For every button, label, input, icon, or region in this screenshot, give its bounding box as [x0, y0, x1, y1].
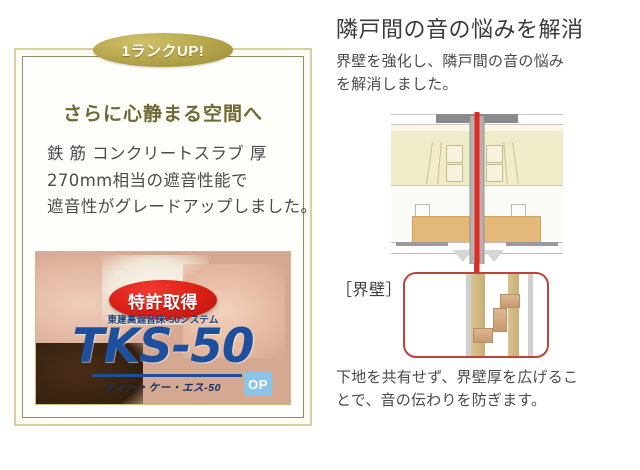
card-heading: さらに心静まる空間へ: [23, 99, 303, 126]
baby-photo: 特許取得 東建高遮音床-50システム TKS-50 ティー・ケー・エス-50 O…: [35, 251, 291, 405]
patent-badge-label: 特許取得: [128, 288, 198, 313]
diagram-lower-slab-core-right: [506, 242, 558, 246]
diagram-lower-slab-core-left: [396, 242, 448, 246]
slide-root: さらに心静まる空間へ 鉄 筋 コンクリートスラブ 厚 270mm相当の遮音性能で…: [0, 0, 640, 470]
logo-underline: [92, 374, 242, 377]
detail-stud-right: [508, 274, 519, 356]
option-badge: OP: [244, 372, 272, 396]
section-lead: 界壁を強化し、隣戸間の音の悩み を解消しました。: [336, 50, 628, 97]
section-lead-line-2: を解消しました。: [336, 73, 628, 96]
rank-up-badge-label: 1ランクUP!: [122, 40, 205, 61]
rank-up-badge-wrap: 1ランクUP!: [16, 33, 310, 67]
detail-board-right: [528, 274, 533, 356]
section-footnote-line-1: 下地を共有せず、界壁厚を広げるこ: [336, 366, 628, 389]
diagram-party-wall-highlight: [475, 112, 480, 272]
diagram-furniture-left-b: [446, 164, 463, 182]
diagram-furniture-right-b: [486, 164, 503, 182]
detail-block-upper-right: [500, 294, 520, 308]
section-footnote: 下地を共有せず、界壁厚を広げるこ とで、音の伝わりを防ぎます。: [336, 366, 628, 413]
section-lead-line-1: 界壁を強化し、隣戸間の音の悩み: [336, 50, 628, 73]
party-wall-detail-box: [403, 272, 549, 358]
rank-up-badge: 1ランクUP!: [93, 33, 233, 67]
detail-label: ［界壁］: [336, 276, 402, 300]
left-feature-card: さらに心静まる空間へ 鉄 筋 コンクリートスラブ 厚 270mm相当の遮音性能で…: [14, 48, 312, 426]
card-body-line-3: 遮音性がグレードアップしました。: [47, 194, 285, 221]
option-badge-label: OP: [248, 377, 268, 392]
diagram-furniture-left-a: [446, 145, 463, 163]
right-column-header: 隣戸間の音の悩みを解消 界壁を強化し、隣戸間の音の悩み を解消しました。: [336, 12, 628, 97]
card-body-text: 鉄 筋 コンクリートスラブ 厚 270mm相当の遮音性能で 遮音性がグレードアッ…: [47, 141, 285, 221]
detail-block-middle: [493, 308, 507, 332]
logo-wordmark: TKS-50: [36, 323, 290, 370]
detail-stud-left: [471, 274, 485, 356]
section-title: 隣戸間の音の悩みを解消: [336, 12, 628, 44]
diagram-light-fan-right: [484, 250, 504, 262]
diagram-furniture-right-a: [486, 145, 503, 163]
detail-block-lower-left: [473, 328, 493, 343]
cross-section-diagram: [391, 112, 563, 264]
card-inner-frame: さらに心静まる空間へ 鉄 筋 コンクリートスラブ 厚 270mm相当の遮音性能で…: [22, 56, 304, 418]
card-body-line-1: 鉄 筋 コンクリートスラブ 厚: [47, 141, 285, 168]
tks50-logo: 東建高遮音床-50システム TKS-50 ティー・ケー・エス-50 OP: [36, 312, 290, 400]
section-footnote-line-2: とで、音の伝わりを防ぎます。: [336, 389, 628, 412]
card-body-line-2: 270mm相当の遮音性能で: [47, 168, 285, 195]
